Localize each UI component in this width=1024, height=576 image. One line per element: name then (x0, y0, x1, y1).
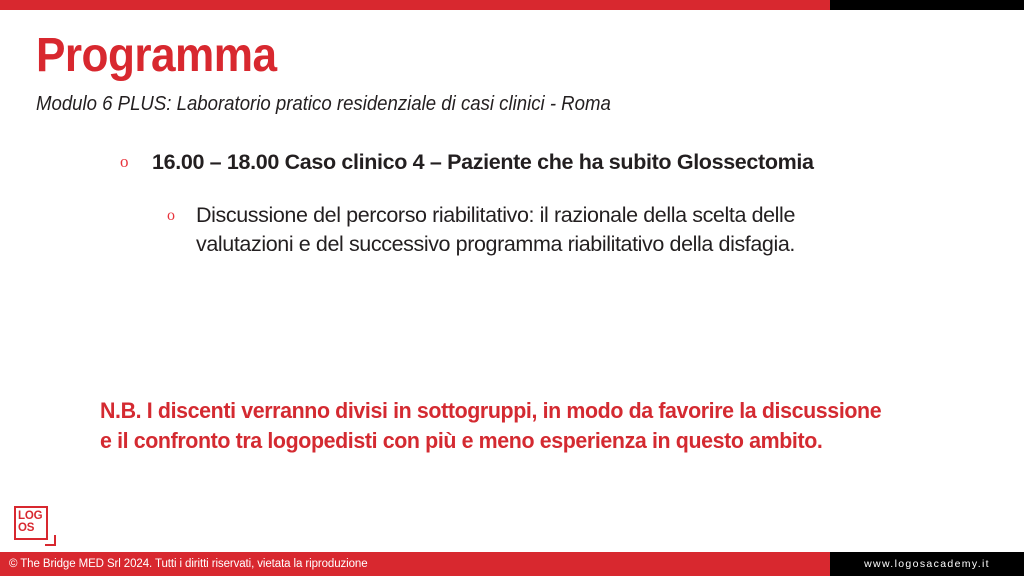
content-body: o 16.00 – 18.00 Caso clinico 4 – Pazient… (0, 148, 1024, 259)
list-item: o 16.00 – 18.00 Caso clinico 4 – Pazient… (0, 148, 1024, 176)
logo-corner-tick-horizontal-icon (45, 544, 56, 547)
page-subtitle: Modulo 6 PLUS: Laboratorio pratico resid… (36, 92, 873, 117)
list-item-label: 16.00 – 18.00 Caso clinico 4 – Paziente … (152, 148, 832, 176)
page-title: Programma (36, 32, 864, 80)
footer-copyright-text: © The Bridge MED Srl 2024. Tutti i dirit… (0, 558, 368, 570)
title-block: Programma Modulo 6 PLUS: Laboratorio pra… (36, 32, 936, 117)
bullet-marker-icon: o (167, 201, 196, 230)
footer-bar: © The Bridge MED Srl 2024. Tutti i dirit… (0, 552, 1024, 576)
list-item-label: Discussione del percorso riabilitativo: … (196, 201, 806, 259)
top-accent-bar (0, 0, 1024, 10)
logos-logo: LOG OS (14, 506, 56, 546)
top-accent-bar-black-segment (830, 0, 1024, 10)
logo-wordmark-line2: OS (18, 522, 44, 534)
logo-wordmark: LOG OS (18, 510, 44, 534)
slide-root: Programma Modulo 6 PLUS: Laboratorio pra… (0, 0, 1024, 576)
list-item: o Discussione del percorso riabilitativo… (0, 201, 1024, 259)
footer-left-segment: © The Bridge MED Srl 2024. Tutti i dirit… (0, 552, 830, 576)
footer-right-segment: www.logosacademy.it (830, 552, 1024, 576)
top-accent-bar-red-segment (0, 0, 830, 10)
footer-website-link[interactable]: www.logosacademy.it (864, 558, 990, 570)
bullet-marker-icon: o (120, 148, 152, 176)
note-paragraph: N.B. I discenti verranno divisi in sotto… (100, 396, 889, 456)
logo-wordmark-line1: LOG (18, 510, 44, 522)
